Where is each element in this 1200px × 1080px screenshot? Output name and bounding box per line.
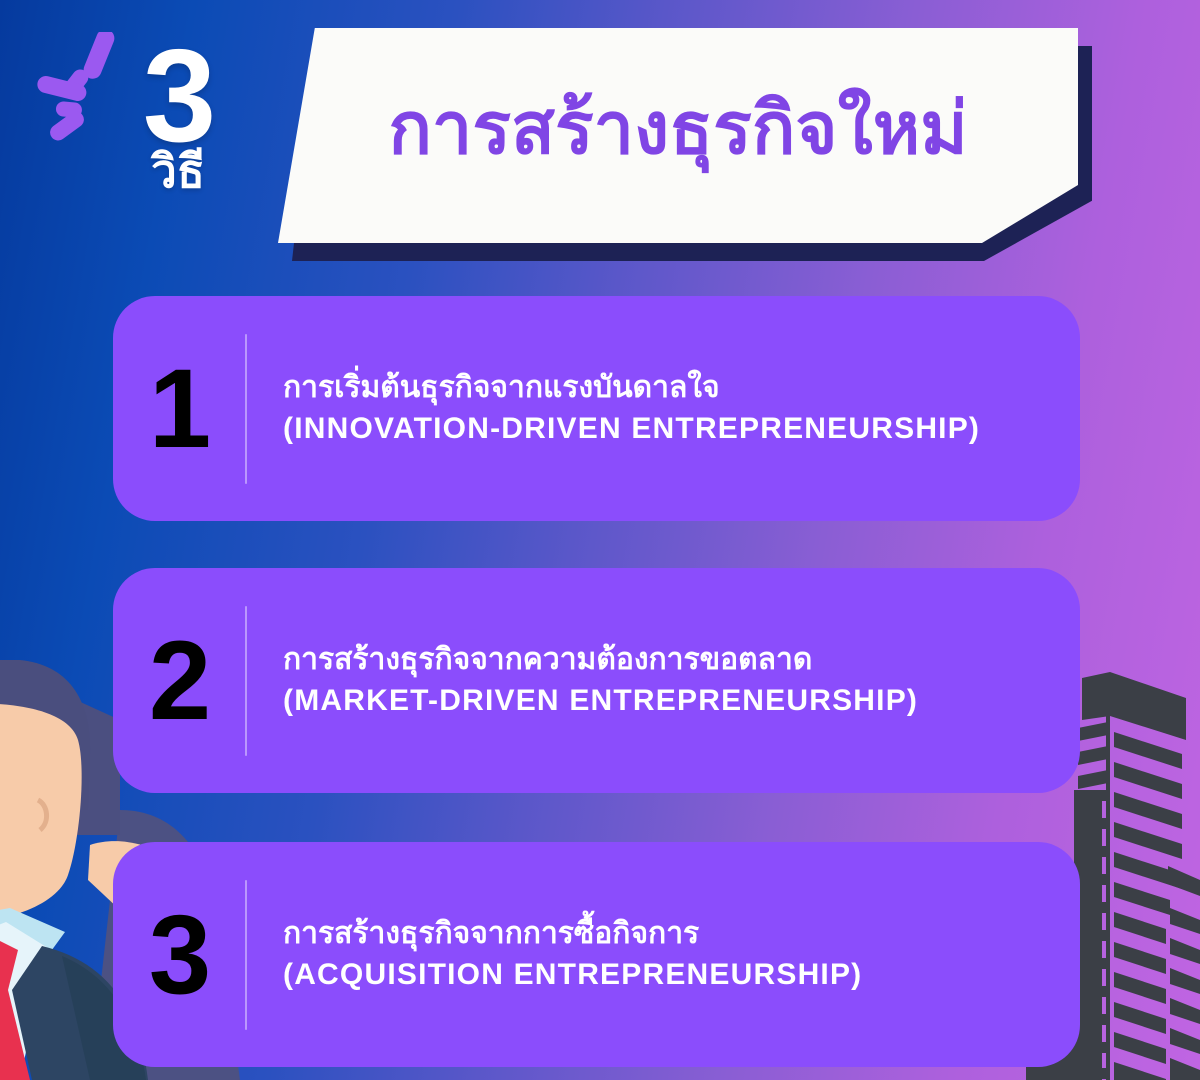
count-block: 3 วิธี [108,38,248,194]
card-number: 3 [113,899,245,1011]
count-label: วิธี [108,148,248,194]
list-item[interactable]: 2 การสร้างธุรกิจจากความต้องการขอตลาด (MA… [113,568,1080,793]
list-item[interactable]: 1 การเริ่มต้นธุรกิจจากแรงบันดาลใจ (INNOV… [113,296,1080,521]
card-text: การเริ่มต้นธุรกิจจากแรงบันดาลใจ (INNOVAT… [247,369,1002,448]
title-banner: การสร้างธุรกิจใหม่ [278,28,1078,243]
card-title-english: (INNOVATION-DRIVEN ENTREPRENEURSHIP) [283,409,980,448]
card-number: 1 [113,353,245,465]
header: 3 วิธี การสร้างธุรกิจใหม่ [0,0,1200,285]
card-title-english: (ACQUISITION ENTREPRENEURSHIP) [283,955,862,994]
card-title-thai: การสร้างธุรกิจจากการซื้อกิจการ [283,915,862,953]
card-title-thai: การสร้างธุรกิจจากความต้องการขอตลาด [283,641,918,679]
card-number: 2 [113,625,245,737]
list-item[interactable]: 3 การสร้างธุรกิจจากการซื้อกิจการ (ACQUIS… [113,842,1080,1067]
card-text: การสร้างธุรกิจจากความต้องการขอตลาด (MARK… [247,641,940,720]
infographic-canvas: 3 วิธี การสร้างธุรกิจใหม่ 1 การเริ่มต้นธ… [0,0,1200,1080]
count-number: 3 [108,38,248,154]
card-title-thai: การเริ่มต้นธุรกิจจากแรงบันดาลใจ [283,369,980,407]
card-text: การสร้างธุรกิจจากการซื้อกิจการ (ACQUISIT… [247,915,884,994]
card-title-english: (MARKET-DRIVEN ENTREPRENEURSHIP) [283,681,918,720]
page-title: การสร้างธุรกิจใหม่ [388,93,967,179]
